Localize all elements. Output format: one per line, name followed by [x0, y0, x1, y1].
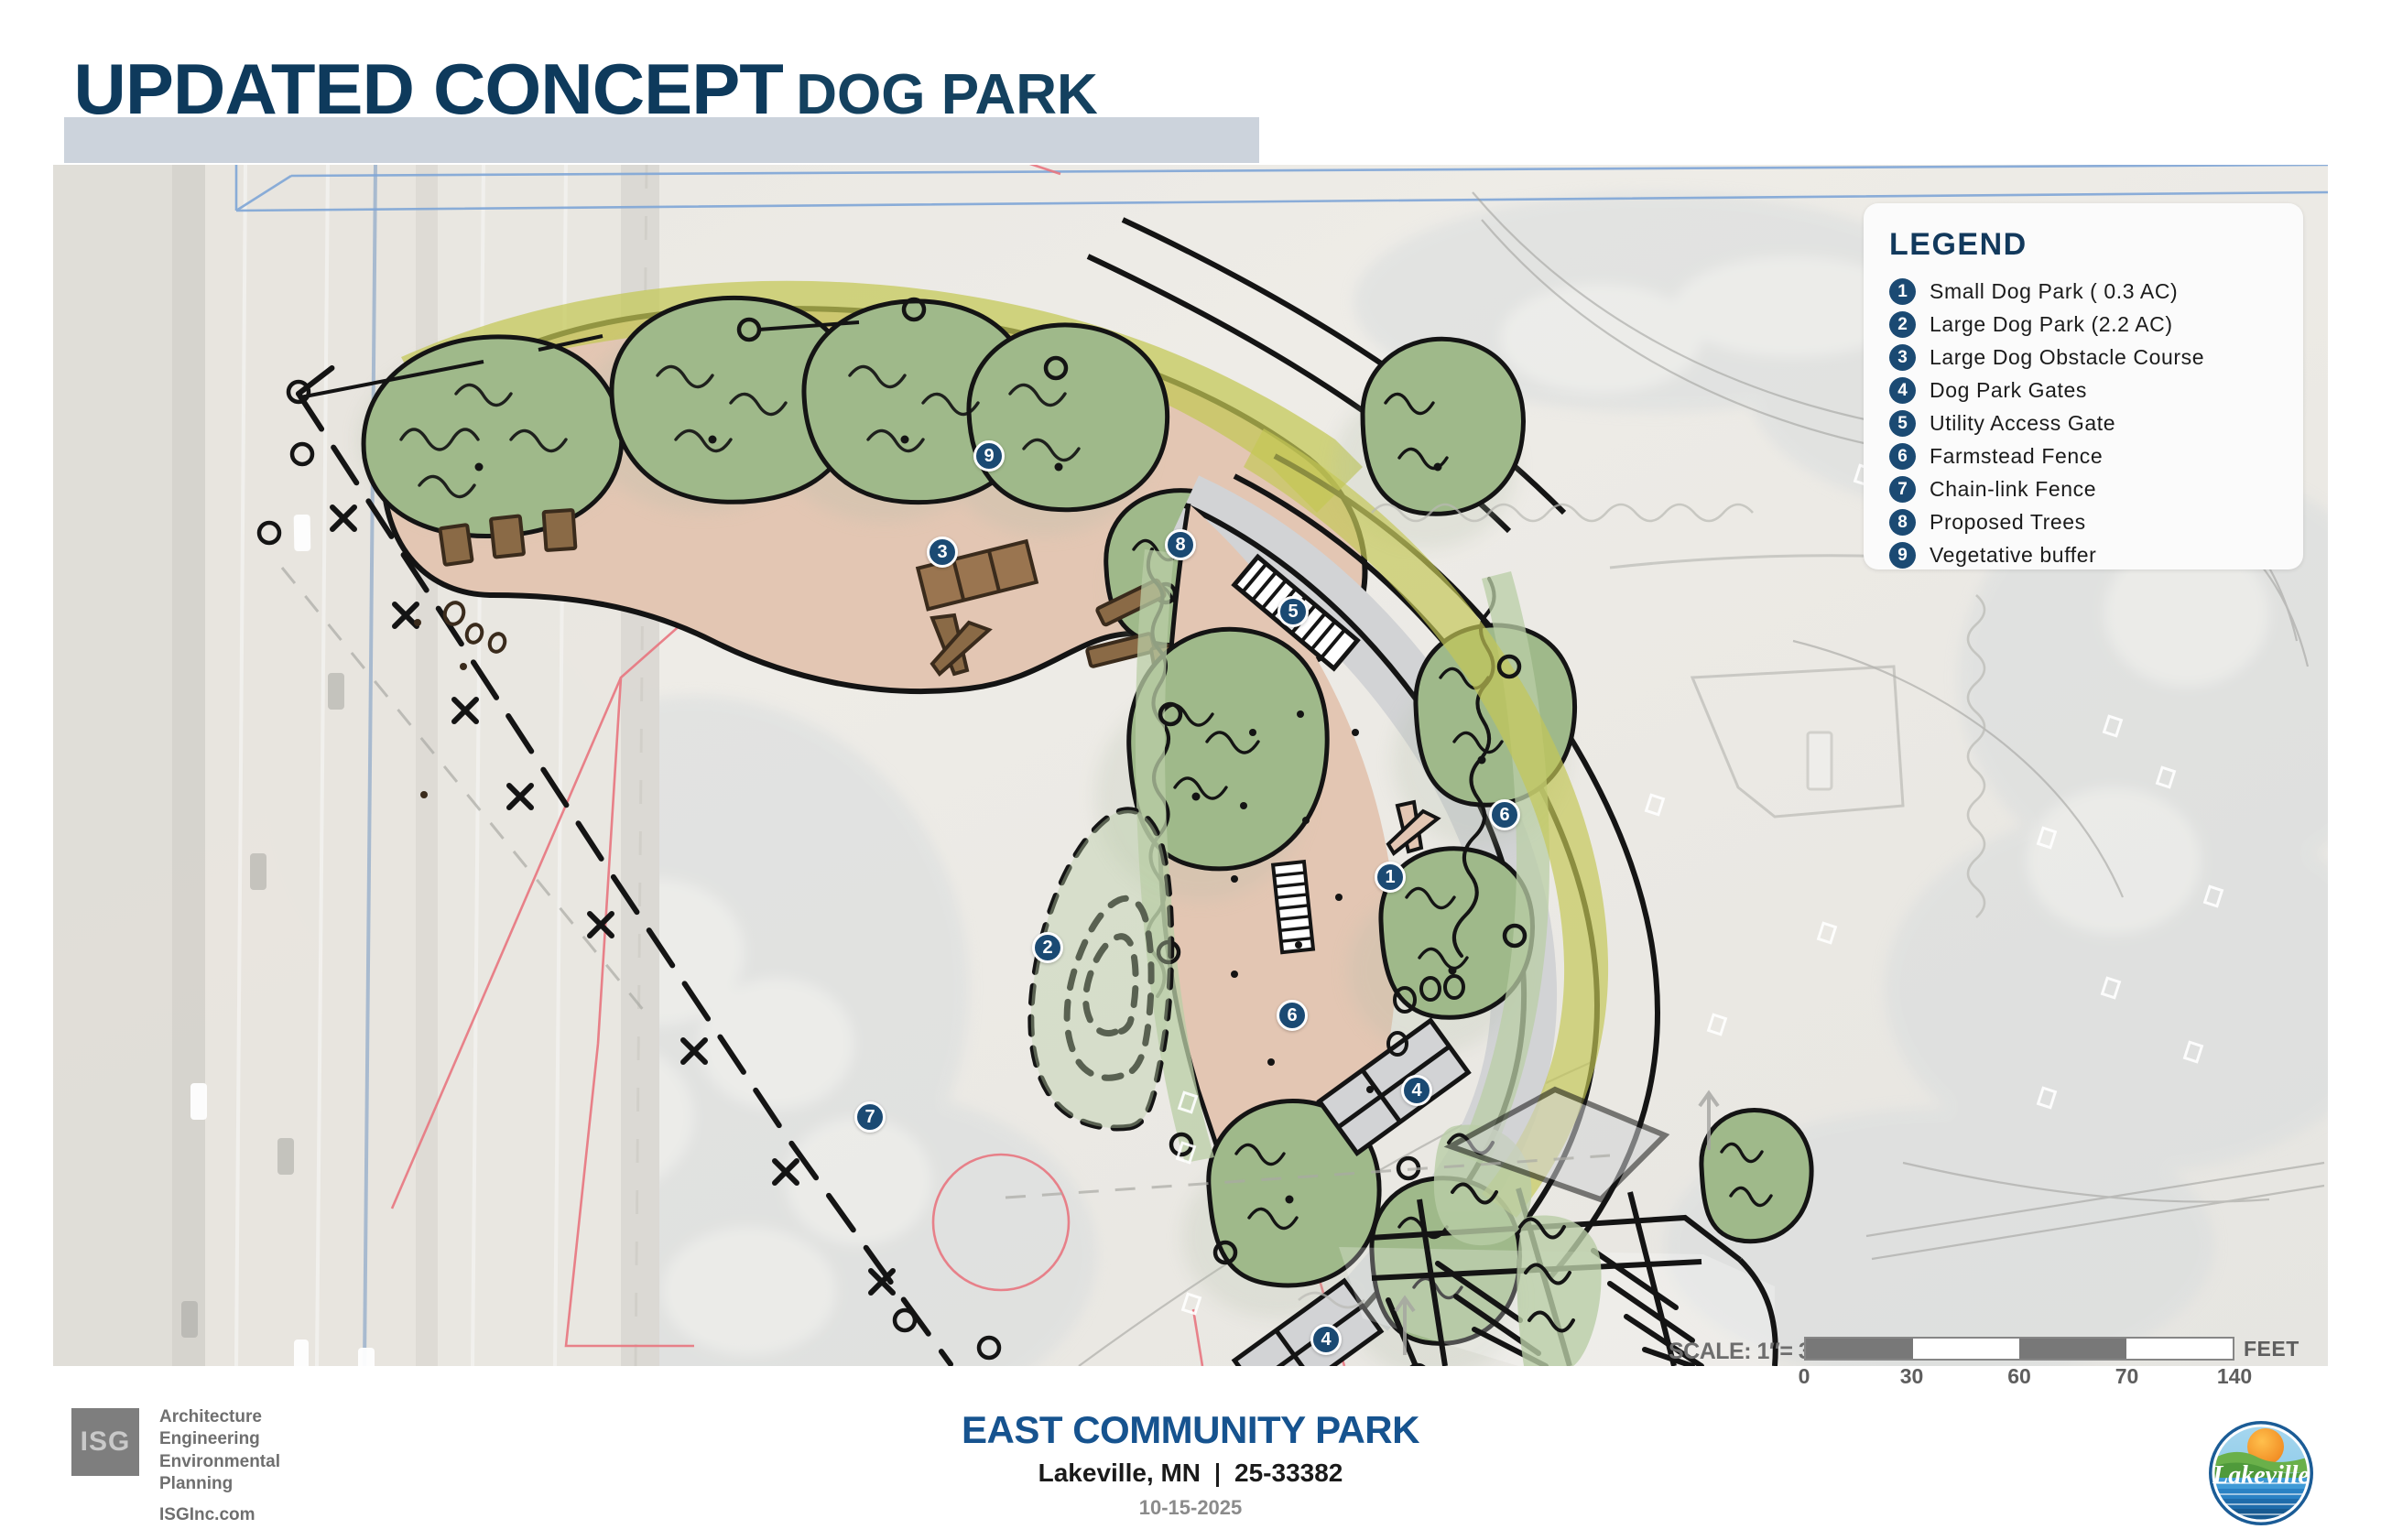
title-main: UPDATED CONCEPT: [73, 48, 782, 131]
map-marker-farmstead-fence-north[interactable]: 6: [1489, 799, 1520, 830]
map-marker-utility-gate[interactable]: 5: [1277, 596, 1309, 627]
legend-item-label: Utility Access Gate: [1930, 411, 2115, 436]
legend-item-label: Chain-link Fence: [1930, 477, 2096, 502]
page-title: UPDATED CONCEPTDOG PARK: [81, 48, 1098, 131]
legend-item-4: 4Dog Park Gates: [1889, 374, 2303, 407]
legend-badge-icon: 7: [1889, 476, 1916, 503]
legend-badge-icon: 1: [1889, 278, 1916, 305]
legend-badge-icon: 4: [1889, 377, 1916, 404]
map-marker-small-dog-park[interactable]: 1: [1375, 862, 1406, 893]
legend-badge-icon: 6: [1889, 443, 1916, 470]
legend-item-1: 1Small Dog Park ( 0.3 AC): [1889, 275, 2303, 308]
lakeville-city-logo: Lakeville: [2205, 1417, 2317, 1529]
scale-units: FEET: [2244, 1337, 2299, 1361]
map-marker-dog-park-gate-north[interactable]: 4: [1401, 1075, 1432, 1106]
scale-bar: SCALE: 1″= 30′ 0306070140 FEET: [1669, 1326, 2310, 1404]
map-marker-vegetative-buffer[interactable]: 9: [973, 440, 1005, 472]
legend-item-label: Farmstead Fence: [1930, 444, 2103, 469]
legend-item-8: 8Proposed Trees: [1889, 505, 2303, 538]
scale-tick-label: 60: [2007, 1364, 2031, 1389]
legend-badge-icon: 8: [1889, 509, 1916, 536]
project-number: 25-33382: [1234, 1459, 1343, 1488]
scale-tick-label: 140: [2217, 1364, 2252, 1389]
legend-item-2: 2Large Dog Park (2.2 AC): [1889, 308, 2303, 341]
map-marker-dog-park-gate-south[interactable]: 4: [1310, 1324, 1342, 1355]
lakeville-wordmark: Lakeville: [2212, 1461, 2310, 1490]
divider: [1216, 1463, 1219, 1487]
map-marker-chainlink-fence[interactable]: 7: [854, 1101, 886, 1133]
legend-badge-icon: 2: [1889, 311, 1916, 338]
legend-badge-icon: 3: [1889, 344, 1916, 371]
legend-badge-icon: 5: [1889, 410, 1916, 437]
scale-segment: [2019, 1339, 2126, 1359]
project-location: Lakeville, MN: [1038, 1459, 1201, 1488]
legend-item-6: 6Farmstead Fence: [1889, 439, 2303, 472]
legend-list: 1Small Dog Park ( 0.3 AC)2Large Dog Park…: [1889, 275, 2303, 571]
map-marker-large-dog-park[interactable]: 2: [1032, 932, 1063, 963]
scale-tick-label: 70: [2115, 1364, 2139, 1389]
legend-item-5: 5Utility Access Gate: [1889, 407, 2303, 439]
legend-item-3: 3Large Dog Obstacle Course: [1889, 341, 2303, 374]
project-name: EAST COMMUNITY PARK: [0, 1408, 2381, 1452]
project-date: 10-15-2025: [0, 1496, 2381, 1520]
map-marker-obstacle-course[interactable]: 3: [927, 537, 958, 568]
legend-item-label: Large Dog Park (2.2 AC): [1930, 312, 2173, 337]
project-subtitle: Lakeville, MN 25-33382: [0, 1459, 2381, 1488]
legend-item-label: Large Dog Obstacle Course: [1930, 345, 2204, 370]
legend-panel: LEGEND 1Small Dog Park ( 0.3 AC)2Large D…: [1864, 203, 2303, 569]
legend-item-label: Vegetative buffer: [1930, 543, 2096, 568]
legend-item-label: Dog Park Gates: [1930, 378, 2087, 403]
scale-tick-label: 30: [1900, 1364, 1924, 1389]
legend-item-9: 9Vegetative buffer: [1889, 538, 2303, 571]
legend-badge-icon: 9: [1889, 542, 1916, 569]
map-marker-farmstead-fence-south[interactable]: 6: [1277, 1000, 1308, 1031]
title-block: EAST COMMUNITY PARK Lakeville, MN 25-333…: [0, 1408, 2381, 1520]
scale-tick-label: 0: [1799, 1364, 1810, 1389]
legend-item-label: Small Dog Park ( 0.3 AC): [1930, 279, 2178, 304]
scale-ticks: 0306070140: [1804, 1364, 2234, 1392]
scale-segment: [1806, 1339, 1913, 1359]
scale-graphic: [1804, 1337, 2234, 1361]
scale-segment: [2126, 1339, 2234, 1359]
legend-item-7: 7Chain-link Fence: [1889, 472, 2303, 505]
legend-item-label: Proposed Trees: [1930, 510, 2086, 535]
legend-title: LEGEND: [1889, 227, 2303, 263]
map-marker-proposed-trees[interactable]: 8: [1165, 529, 1196, 560]
title-bar: UPDATED CONCEPTDOG PARK: [0, 0, 2381, 165]
scale-segment: [1913, 1339, 2020, 1359]
title-subtitle: DOG PARK: [796, 62, 1098, 127]
